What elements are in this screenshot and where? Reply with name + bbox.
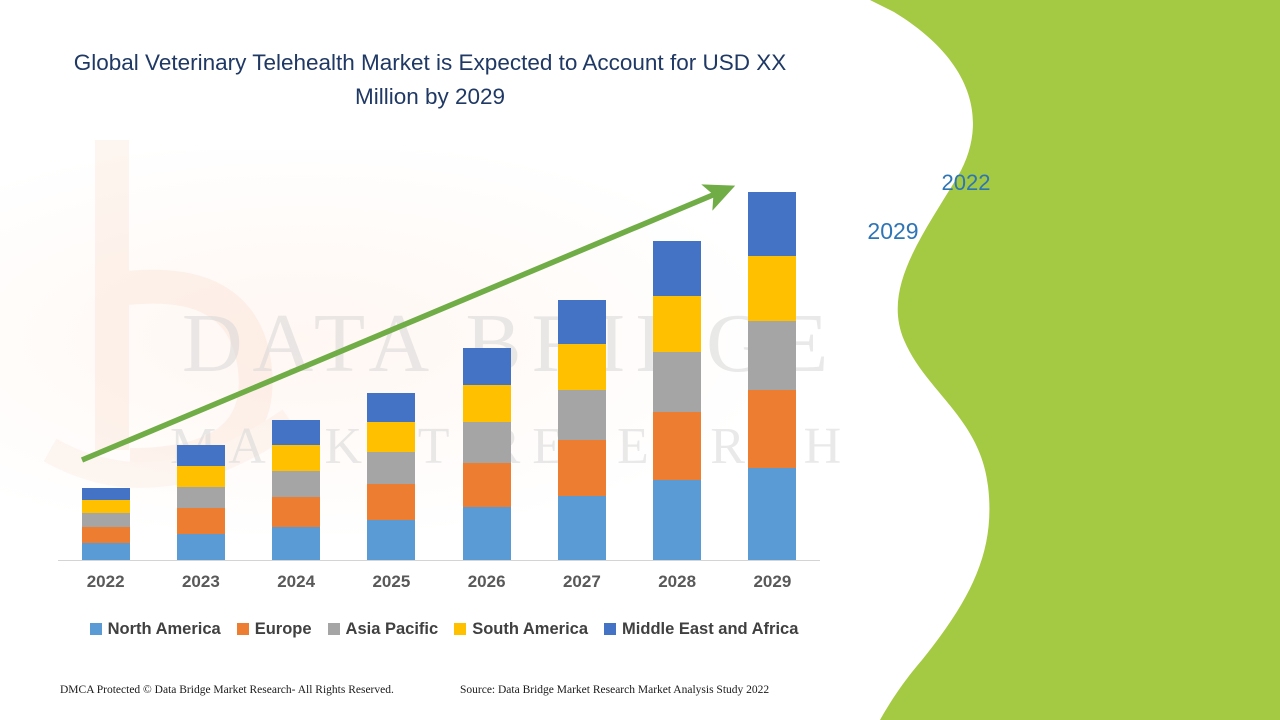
- bar-segment: [558, 300, 606, 345]
- bar-segment: [367, 422, 415, 452]
- bar-segment: [367, 452, 415, 484]
- legend-swatch-icon: [328, 623, 340, 635]
- bar-segment: [367, 484, 415, 520]
- x-axis-label: 2025: [346, 572, 436, 592]
- hexagon-label-2029: 2029: [838, 218, 948, 245]
- bar-segment: [177, 445, 225, 466]
- bar-column: [463, 348, 511, 560]
- bar-column: [748, 192, 796, 560]
- bar-segment: [558, 390, 606, 439]
- bar-segment: [272, 420, 320, 445]
- legend-item[interactable]: South America: [454, 620, 588, 639]
- bar-segment: [177, 466, 225, 487]
- bar-segment: [177, 508, 225, 533]
- green-panel-shape: [830, 0, 1280, 720]
- bar-segment: [748, 256, 796, 321]
- bar-segment: [82, 527, 130, 543]
- bar-segment: [463, 463, 511, 508]
- hexagon-label-2022: 2022: [918, 170, 1014, 196]
- legend-item[interactable]: Asia Pacific: [328, 620, 439, 639]
- green-side-panel: Global Veterinary Telehealth Market, By …: [830, 0, 1280, 720]
- x-axis-label: 2024: [251, 572, 341, 592]
- footer-source: Source: Data Bridge Market Research Mark…: [460, 684, 769, 696]
- x-axis-label: 2029: [727, 572, 817, 592]
- bar-segment: [463, 422, 511, 462]
- bar-column: [558, 300, 606, 560]
- bar-segment: [272, 445, 320, 470]
- bar-segment: [748, 468, 796, 560]
- bar-segment: [558, 496, 606, 560]
- legend-item[interactable]: North America: [90, 620, 221, 639]
- x-axis-label: 2022: [61, 572, 151, 592]
- legend-item[interactable]: Middle East and Africa: [604, 620, 798, 639]
- bar-segment: [653, 480, 701, 560]
- legend-label: Asia Pacific: [346, 620, 439, 639]
- legend-swatch-icon: [90, 623, 102, 635]
- bar-column: [177, 445, 225, 560]
- legend-swatch-icon: [237, 623, 249, 635]
- x-axis-label: 2026: [442, 572, 532, 592]
- legend-label: North America: [108, 620, 221, 639]
- bar-segment: [463, 507, 511, 560]
- footer-copyright: DMCA Protected © Data Bridge Market Rese…: [60, 684, 394, 696]
- bar-segment: [272, 497, 320, 527]
- bar-segment: [82, 500, 130, 513]
- bar-segment: [653, 296, 701, 352]
- bar-segment: [82, 513, 130, 527]
- bar-segment: [748, 390, 796, 468]
- x-axis-tick-labels: 20222023202420252026202720282029: [58, 572, 820, 600]
- bar-segment: [558, 344, 606, 390]
- legend-label: Europe: [255, 620, 312, 639]
- bar-segment: [272, 527, 320, 560]
- infographic-canvas: DATA BRIDGE MARKET RESEARCH Global Veter…: [0, 0, 1280, 720]
- bar-segment: [82, 488, 130, 501]
- bar-segment: [463, 348, 511, 385]
- bar-segment: [272, 471, 320, 497]
- legend-item[interactable]: Europe: [237, 620, 312, 639]
- bar-segment: [653, 241, 701, 296]
- bar-segment: [653, 412, 701, 480]
- bar-column: [272, 420, 320, 560]
- bar-segment: [367, 520, 415, 560]
- bar-column: [367, 393, 415, 560]
- x-axis-label: 2028: [632, 572, 722, 592]
- bar-segment: [177, 487, 225, 509]
- chart-legend: North AmericaEuropeAsia PacificSouth Ame…: [58, 616, 830, 642]
- legend-label: Middle East and Africa: [622, 620, 798, 639]
- x-axis-label: 2027: [537, 572, 627, 592]
- bar-column: [653, 241, 701, 560]
- bar-segment: [177, 534, 225, 560]
- bar-segment: [748, 321, 796, 390]
- bar-segment: [463, 385, 511, 423]
- legend-label: South America: [472, 620, 588, 639]
- bar-column: [82, 488, 130, 560]
- x-axis-line: [58, 560, 820, 561]
- x-axis-label: 2023: [156, 572, 246, 592]
- chart-title: Global Veterinary Telehealth Market is E…: [60, 46, 800, 114]
- bar-segment: [82, 543, 130, 560]
- legend-swatch-icon: [604, 623, 616, 635]
- chart-panel: Global Veterinary Telehealth Market is E…: [0, 0, 900, 720]
- legend-swatch-icon: [454, 623, 466, 635]
- bar-segment: [748, 192, 796, 256]
- stacked-bar-plot: [58, 170, 820, 560]
- bar-segment: [653, 352, 701, 412]
- bar-segment: [558, 440, 606, 496]
- bar-segment: [367, 393, 415, 423]
